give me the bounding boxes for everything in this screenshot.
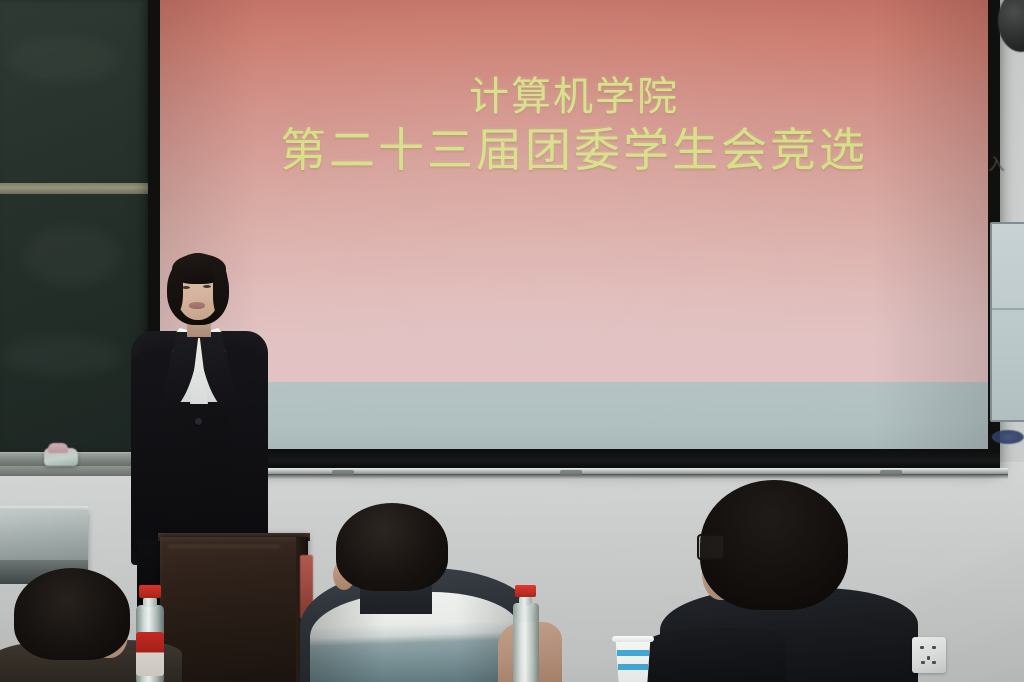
cup-stripe-1 bbox=[617, 650, 649, 656]
wall-board-logo bbox=[992, 430, 1024, 444]
presenter-arm-right bbox=[230, 350, 268, 555]
presenter-mouth bbox=[189, 302, 205, 309]
slide-title-line2: 第二十三届团委学生会竞选 bbox=[160, 122, 988, 180]
cup-rim bbox=[612, 636, 654, 642]
audience-right-shoulder bbox=[636, 628, 786, 682]
podium-highlight bbox=[168, 545, 280, 548]
wall-board bbox=[990, 222, 1024, 422]
audience-center-head bbox=[336, 503, 448, 591]
power-socket bbox=[912, 637, 946, 673]
strip-mount-mid bbox=[560, 470, 582, 476]
wall-board-line bbox=[992, 308, 1024, 310]
presenter-eye-left bbox=[182, 286, 190, 289]
presenter-arm-left bbox=[131, 350, 169, 555]
bottle-center-cap bbox=[515, 585, 536, 597]
strip-mount-right bbox=[880, 470, 902, 476]
chalkboard-divider bbox=[0, 183, 154, 194]
slide-title-line1: 计算机学院 bbox=[160, 72, 988, 122]
bottle-left-cap bbox=[139, 585, 161, 598]
presenter-hair-left bbox=[170, 266, 183, 312]
screen-bottom-weight-bar bbox=[148, 449, 1000, 468]
podium bbox=[160, 537, 308, 682]
bottle-center-body bbox=[513, 603, 539, 682]
bottle-center-neck bbox=[519, 596, 532, 605]
bottle-left-neck bbox=[143, 597, 157, 607]
slide-lower-band bbox=[160, 382, 988, 449]
audience-left-head bbox=[14, 568, 130, 660]
glasses-icon bbox=[697, 534, 725, 560]
presenter-eye-right bbox=[203, 285, 211, 288]
projection-screen-surface: 计算机学院 第二十三届团委学生会竞选 bbox=[160, 0, 988, 449]
cup-stripe-2 bbox=[618, 664, 648, 670]
paper-cup bbox=[614, 638, 652, 682]
wall-scribble: 入 bbox=[988, 150, 1020, 176]
bottle-left-label bbox=[136, 632, 164, 676]
eraser-top bbox=[48, 443, 68, 453]
slide-text-block: 计算机学院 第二十三届团委学生会竞选 bbox=[160, 72, 988, 180]
strip-mount-left bbox=[332, 470, 354, 476]
presenter-jacket-button bbox=[195, 418, 202, 425]
classroom-photo: 计算机学院 第二十三届团委学生会竞选 入 bbox=[0, 0, 1024, 682]
